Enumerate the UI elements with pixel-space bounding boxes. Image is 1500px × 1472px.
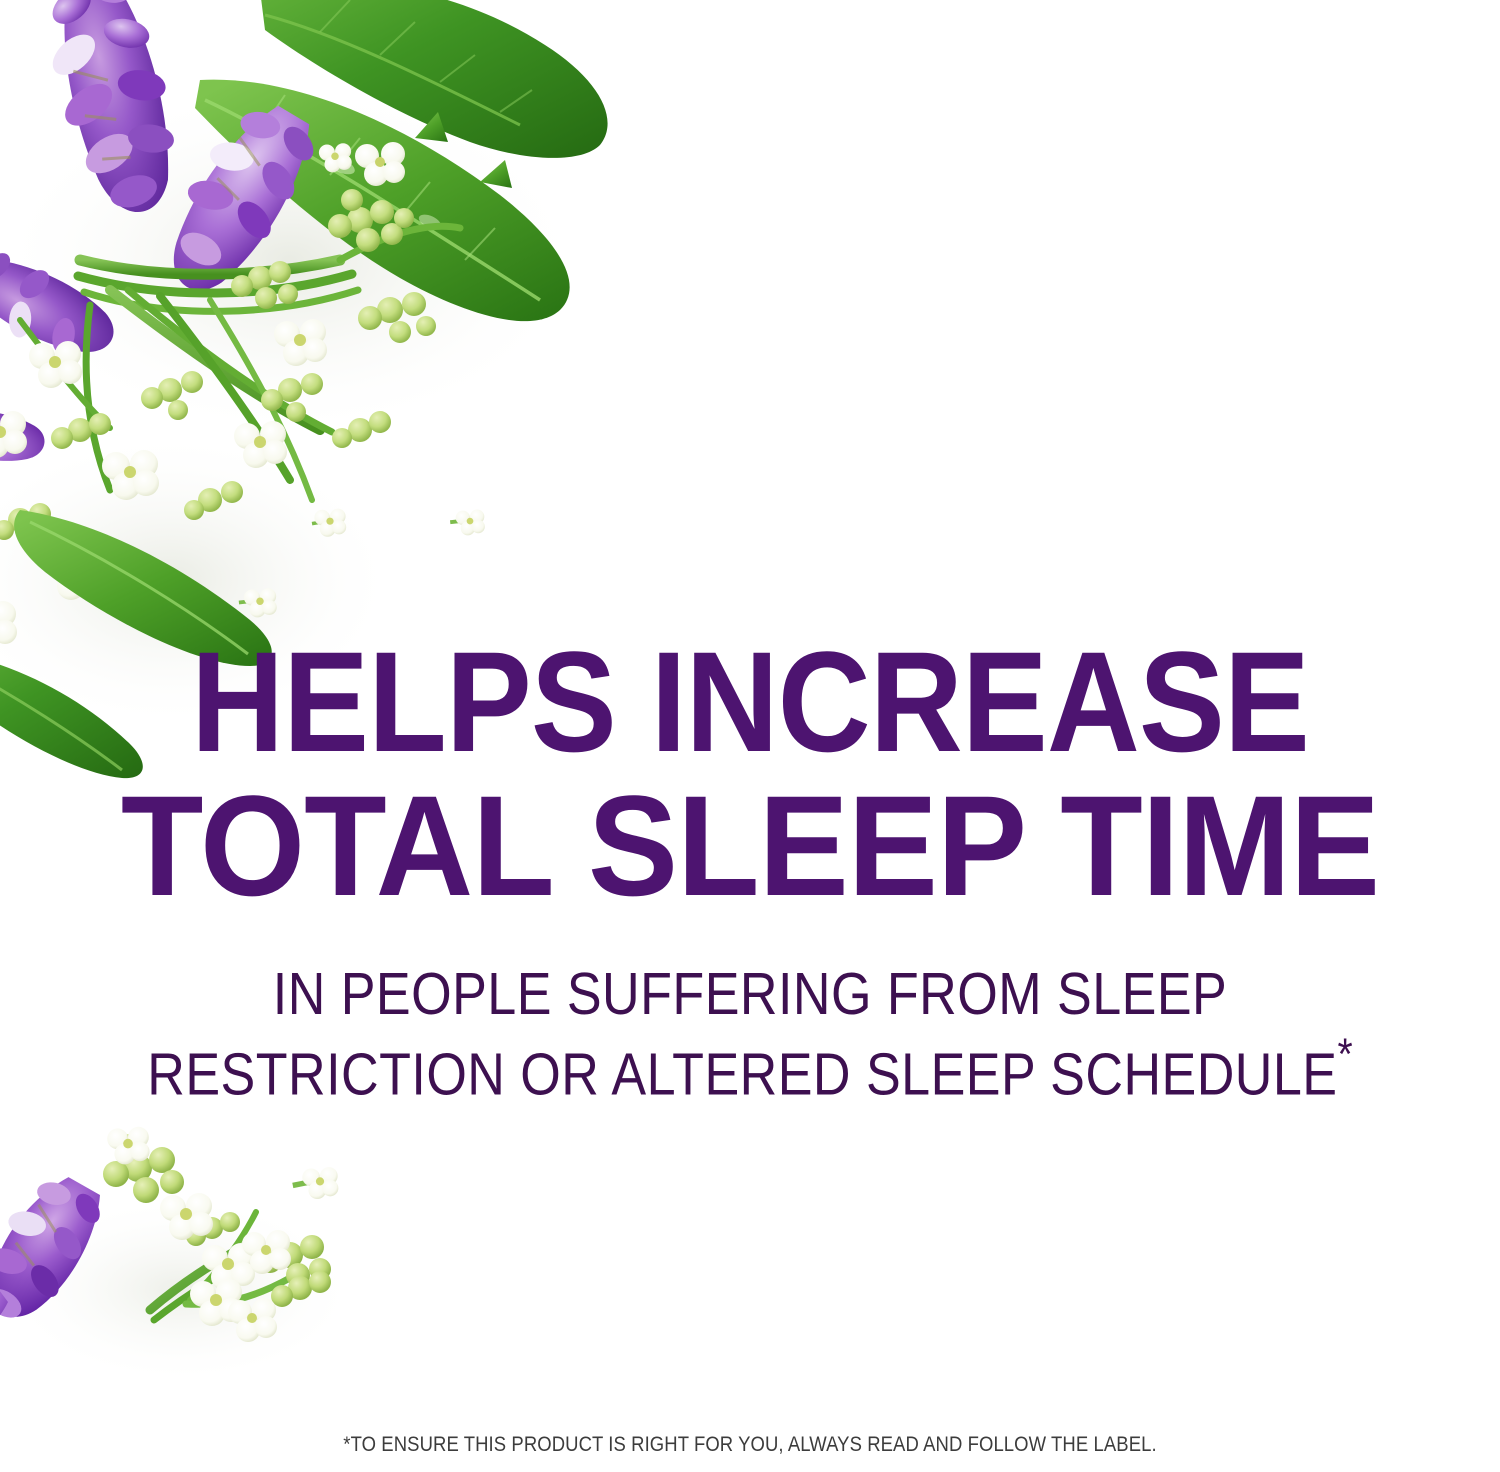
lavender-spike-group (0, 0, 336, 471)
footnote-marker-asterisk: * (1338, 1029, 1353, 1079)
stem-bundle (20, 226, 460, 500)
product-claim-banner: HELPS INCREASE TOTAL SLEEP TIME IN PEOPL… (0, 0, 1500, 1472)
valerian-umbel-group (0, 142, 485, 648)
subheadline-line-2: RESTRICTION OR ALTERED SLEEP SCHEDULE* (53, 1032, 1448, 1104)
footnote-disclaimer: *TO ENSURE THIS PRODUCT IS RIGHT FOR YOU… (90, 1434, 1410, 1455)
headline-line-1: HELPS INCREASE (60, 631, 1440, 774)
leaf-group-upper (195, 0, 608, 321)
subheadline-line-2-text: RESTRICTION OR ALTERED SLEEP SCHEDULE (147, 1040, 1337, 1107)
lavender-and-valerian-sprig-photo (0, 1120, 390, 1420)
headline-line-2: TOTAL SLEEP TIME (26, 775, 1474, 918)
subheadline-line-1: IN PEOPLE SUFFERING FROM SLEEP (53, 964, 1448, 1023)
